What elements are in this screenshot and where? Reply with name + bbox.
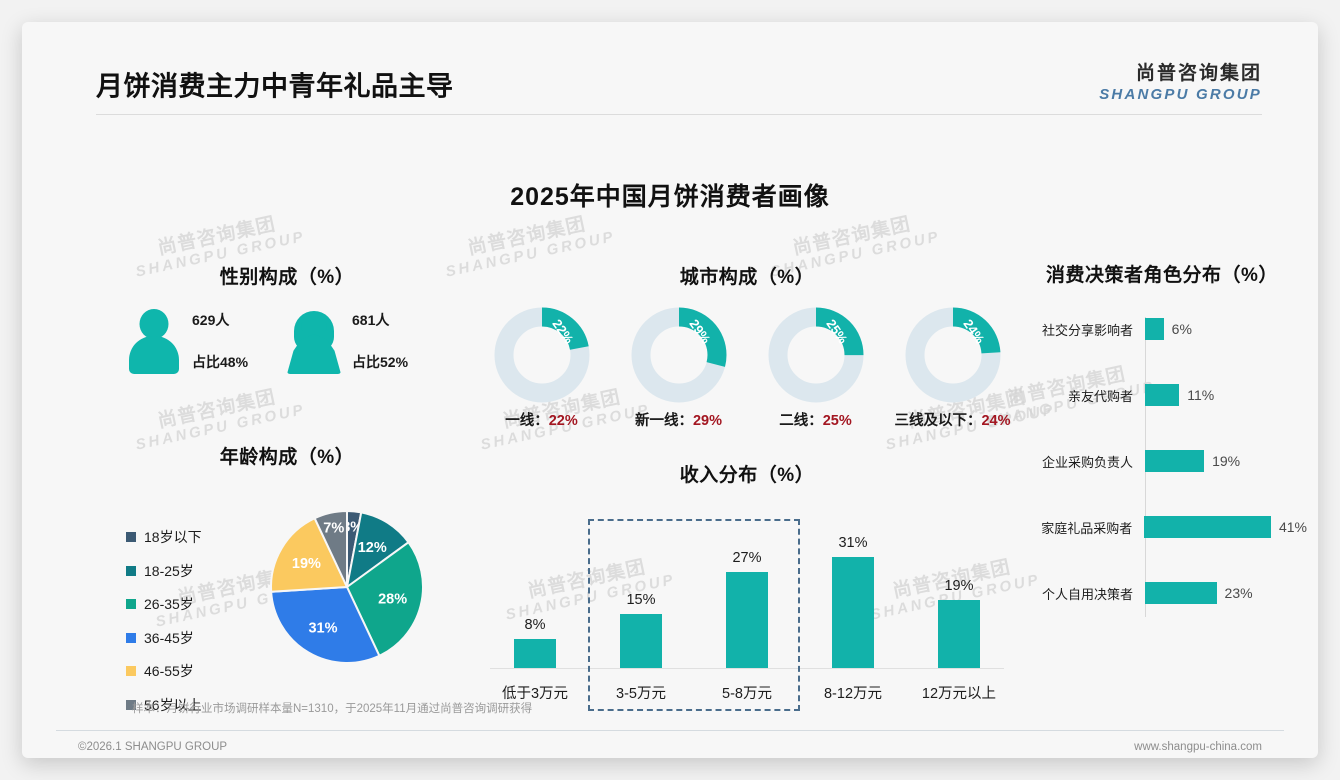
donut-caption-value: 24% xyxy=(981,413,1010,429)
role-panel-title: 消费决策者角色分布（%） xyxy=(1017,260,1307,287)
donut-caption: 一线：22% xyxy=(473,409,610,430)
role-bar-value: 23% xyxy=(1225,585,1253,601)
role-bar-row: 个人自用决策者23% xyxy=(1017,581,1307,605)
legend-swatch xyxy=(126,532,136,542)
role-category-label: 家庭礼品采购者 xyxy=(1017,518,1140,537)
role-bar-row: 企业采购负责人19% xyxy=(1017,449,1307,473)
sample-note: 样本：月饼行业市场调研样本量N=1310，于2025年11月通过尚普咨询调研获得 xyxy=(132,700,532,716)
city-donut-item: 25%二线：25% xyxy=(747,307,884,430)
legend-label: 18-25岁 xyxy=(144,561,194,581)
donut-gauge: 22% xyxy=(494,307,590,403)
donut-caption-value: 25% xyxy=(823,413,852,429)
donut-gauge: 25% xyxy=(768,307,864,403)
male-share: 占比48% xyxy=(192,352,248,372)
legend-swatch xyxy=(126,666,136,676)
donut-gauge: 29% xyxy=(631,307,727,403)
pie-slice-label: 7% xyxy=(323,521,344,537)
income-bar xyxy=(514,639,556,668)
legend-swatch xyxy=(126,566,136,576)
watermark-cn: 尚普咨询集团 xyxy=(440,209,614,265)
role-bar-value: 41% xyxy=(1279,519,1307,535)
website-link[interactable]: www.shangpu-china.com xyxy=(1134,741,1262,753)
income-bar-column: 19% xyxy=(906,528,1012,668)
role-bar-value: 19% xyxy=(1212,453,1240,469)
role-category-label: 社交分享影响者 xyxy=(1017,320,1141,339)
legend-label: 26-35岁 xyxy=(144,594,194,614)
watermark-cn: 尚普咨询集团 xyxy=(130,209,304,265)
donut-caption-name: 新一线： xyxy=(635,413,693,429)
age-composition-panel: 年龄构成（%） 18岁以下 18-25岁 26-35岁 36-45岁 46-55… xyxy=(112,442,462,679)
income-bar-value: 19% xyxy=(944,578,973,594)
slide-header: 月饼消费主力中青年礼品主导 尚普咨询集团 SHANGPU GROUP xyxy=(22,22,1318,114)
income-bar-value: 31% xyxy=(838,535,867,551)
copyright-text: ©2026.1 SHANGPU GROUP xyxy=(78,741,227,753)
donut-caption: 新一线：29% xyxy=(610,409,747,430)
role-category-label: 亲友代购者 xyxy=(1017,386,1141,405)
male-count: 629人 xyxy=(192,310,248,330)
footer-divider xyxy=(56,730,1284,731)
legend-item: 18岁以下 xyxy=(126,527,202,547)
donut-caption: 三线及以下：24% xyxy=(884,409,1021,430)
role-bar xyxy=(1144,516,1271,538)
watermark-cn: 尚普咨询集团 xyxy=(130,382,304,438)
city-donut-item: 29%新一线：29% xyxy=(610,307,747,430)
legend-item: 26-35岁 xyxy=(126,594,202,614)
role-bar-row: 家庭礼品采购者41% xyxy=(1017,515,1307,539)
donut-gauge: 24% xyxy=(905,307,1001,403)
income-bar-value: 8% xyxy=(525,617,546,633)
legend-swatch xyxy=(126,633,136,643)
gender-panel-title: 性别构成（%） xyxy=(112,262,462,289)
donut-caption-value: 29% xyxy=(693,413,722,429)
role-bar xyxy=(1145,450,1204,472)
pie-slice-label: 12% xyxy=(358,540,387,556)
income-category-label: 12万元以上 xyxy=(906,682,1012,703)
slide-canvas: 尚普咨询集团 SHANGPU GROUP 尚普咨询集团 SHANGPU GROU… xyxy=(22,22,1318,758)
watermark-cn: 尚普咨询集团 xyxy=(765,209,939,265)
role-bar-value: 11% xyxy=(1187,387,1214,403)
donut-caption: 二线：25% xyxy=(747,409,884,430)
income-bar-column: 31% xyxy=(800,528,906,668)
page-title: 月饼消费主力中青年礼品主导 xyxy=(96,65,454,104)
legend-label: 36-45岁 xyxy=(144,628,194,648)
donut-caption-value: 22% xyxy=(549,413,578,429)
income-panel-title: 收入分布（%） xyxy=(482,460,1012,487)
donut-caption-name: 二线： xyxy=(779,413,823,429)
income-bar xyxy=(832,557,874,668)
city-composition-panel: 城市构成（%） 22%一线：22%29%新一线：29%25%二线：25%24%三… xyxy=(467,262,1027,430)
role-category-label: 个人自用决策者 xyxy=(1017,584,1141,603)
pie-slice-label: 19% xyxy=(292,556,321,572)
female-share: 占比52% xyxy=(352,352,408,372)
donut-caption-name: 三线及以下： xyxy=(894,413,981,429)
age-pie-chart: 3%12%28%31%19%7% xyxy=(267,507,427,667)
gender-composition-panel: 性别构成（%） 629人 占比48% 681人 占比52% xyxy=(112,262,462,373)
female-count: 681人 xyxy=(352,310,408,330)
age-panel-title: 年龄构成（%） xyxy=(112,442,462,469)
role-bar xyxy=(1145,384,1179,406)
decision-role-panel: 消费决策者角色分布（%） 社交分享影响者6%亲友代购者11%企业采购负责人19%… xyxy=(1017,260,1307,617)
legend-swatch xyxy=(126,599,136,609)
role-bar-row: 亲友代购者11% xyxy=(1017,383,1307,407)
role-bar xyxy=(1145,582,1217,604)
gender-item-female: 681人 占比52% xyxy=(288,309,448,373)
income-bar xyxy=(938,600,980,668)
brand-logo-en: SHANGPU GROUP xyxy=(1099,86,1262,103)
legend-item: 36-45岁 xyxy=(126,628,202,648)
legend-item: 46-55岁 xyxy=(126,661,202,681)
income-highlight-box xyxy=(588,519,800,711)
pie-slice-label: 31% xyxy=(308,621,337,637)
donut-caption-name: 一线： xyxy=(505,413,549,429)
brand-logo: 尚普咨询集团 SHANGPU GROUP xyxy=(1099,58,1262,103)
income-bar-column: 8% xyxy=(482,528,588,668)
legend-item: 18-25岁 xyxy=(126,561,202,581)
role-bar-row: 社交分享影响者6% xyxy=(1017,317,1307,341)
legend-label: 46-55岁 xyxy=(144,661,194,681)
city-panel-title: 城市构成（%） xyxy=(467,262,1027,289)
income-category-label: 8-12万元 xyxy=(800,682,906,703)
role-category-label: 企业采购负责人 xyxy=(1017,452,1141,471)
brand-logo-cn: 尚普咨询集团 xyxy=(1099,58,1262,85)
legend-label: 18岁以下 xyxy=(144,527,202,547)
header-divider xyxy=(96,114,1262,115)
city-donut-item: 22%一线：22% xyxy=(473,307,610,430)
gender-item-male: 629人 占比48% xyxy=(128,309,288,373)
city-donut-item: 24%三线及以下：24% xyxy=(884,307,1021,430)
city-donut-row: 22%一线：22%29%新一线：29%25%二线：25%24%三线及以下：24% xyxy=(467,307,1027,430)
male-figure-icon xyxy=(128,309,180,373)
pie-slice-label: 28% xyxy=(378,592,407,608)
female-figure-icon xyxy=(288,309,340,373)
role-bar-value: 6% xyxy=(1172,321,1192,337)
income-distribution-panel: 收入分布（%） 8%15%27%31%19% 低于3万元3-5万元5-8万元8-… xyxy=(482,460,1012,711)
role-bar xyxy=(1145,318,1164,340)
main-title: 2025年中国月饼消费者画像 xyxy=(22,177,1318,213)
age-legend: 18岁以下 18-25岁 26-35岁 36-45岁 46-55岁 56岁以上 xyxy=(126,527,202,728)
